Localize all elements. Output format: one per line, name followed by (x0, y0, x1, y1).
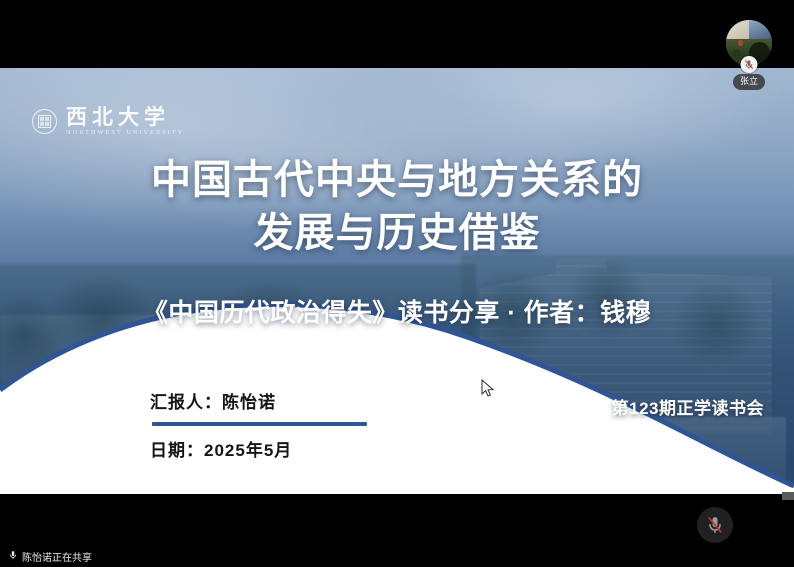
screen-share-window: 张立 西北大学 NORTHWEST UNIVERSITY 中国古代中 (0, 0, 794, 567)
slide-title-line1: 中国古代中央与地方关系的 (0, 154, 794, 207)
participant-tile[interactable]: 张立 (726, 20, 772, 94)
sharing-status-text: 陈怡诺正在共享 (22, 549, 92, 564)
presenter-name: 汇报人：陈怡诺 (150, 388, 367, 413)
participant-name: 张立 (733, 74, 765, 90)
university-logo: 西北大学 NORTHWEST UNIVERSITY (32, 106, 184, 136)
mic-muted-icon (741, 56, 758, 73)
presenter-divider (152, 422, 367, 426)
bottom-letterbox (0, 494, 794, 567)
slide-title-line2: 发展与历史借鉴 (0, 207, 794, 260)
presentation-date: 日期：2025年5月 (150, 436, 367, 461)
self-mute-button[interactable] (697, 507, 733, 543)
university-seal-icon (32, 109, 57, 134)
logo-name-cn: 西北大学 (66, 106, 184, 128)
logo-name-en: NORTHWEST UNIVERSITY (66, 129, 184, 136)
sharing-status: 陈怡诺正在共享 (8, 549, 92, 564)
slide-subtitle: 《中国历代政治得失》读书分享 · 作者：钱穆 (0, 293, 794, 329)
session-label: 第123期正学读书会 (612, 394, 764, 419)
slide-title: 中国古代中央与地方关系的 发展与历史借鉴 (0, 154, 794, 260)
scrollbar-nub[interactable] (782, 492, 794, 500)
top-letterbox (0, 0, 794, 68)
shared-slide[interactable]: 西北大学 NORTHWEST UNIVERSITY 中国古代中央与地方关系的 发… (0, 68, 794, 494)
presenter-info: 汇报人：陈怡诺 日期：2025年5月 (150, 388, 367, 461)
microphone-icon (8, 549, 18, 564)
